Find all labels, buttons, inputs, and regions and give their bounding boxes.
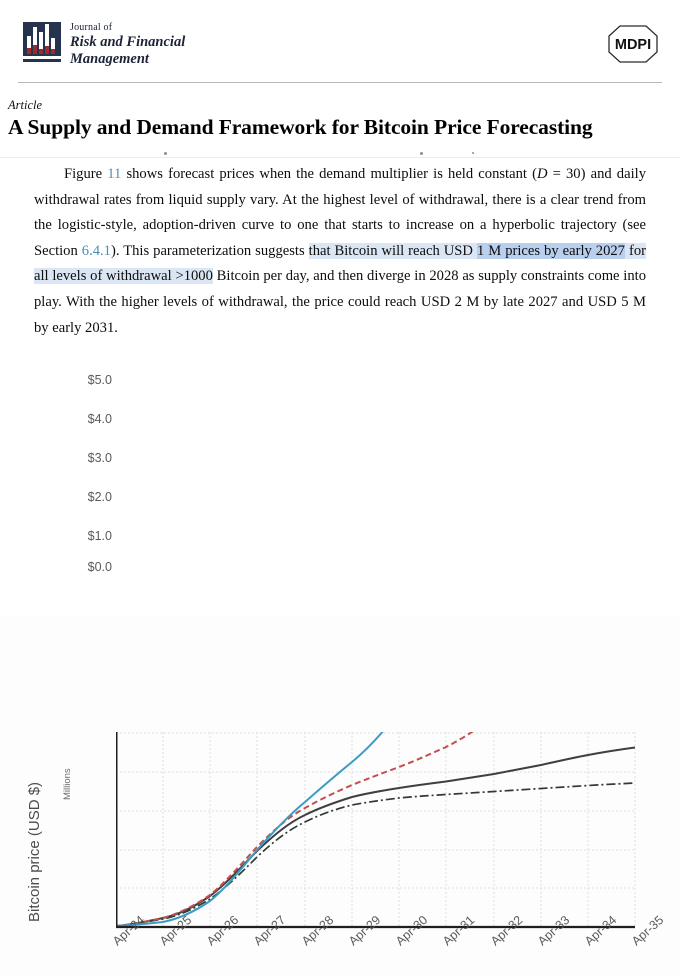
journal-logo-icon — [23, 22, 61, 62]
chart-x-tick: Apr-32 — [488, 913, 525, 949]
para-text-1: Figure — [64, 166, 107, 182]
journal-title-line-3: Management — [70, 51, 185, 68]
article-type-kicker: Article — [8, 98, 42, 113]
journal-title-line-2: Risk and Financial — [70, 34, 185, 51]
text-artifact — [420, 152, 423, 155]
para-text-2: shows forecast prices when the demand mu… — [121, 166, 537, 182]
section-hairline — [0, 157, 680, 158]
chart-x-tick: Apr-27 — [251, 913, 288, 949]
chart-x-tick: Apr-33 — [535, 913, 572, 949]
text-artifact — [472, 152, 474, 154]
figure-reference-link[interactable]: 11 — [107, 166, 121, 182]
chart-x-tick: Apr-34 — [582, 913, 619, 949]
variable-d: D — [537, 166, 548, 182]
chart-x-tick: Apr-30 — [393, 913, 430, 949]
chart-x-tick: Apr-24 — [110, 913, 147, 949]
chart-x-tick: Apr-28 — [299, 913, 336, 949]
chart-x-tick: Apr-26 — [204, 913, 241, 949]
para-text-4: ). This parameterization suggests — [111, 243, 309, 259]
section-reference-link[interactable]: 6.4.1 — [82, 243, 111, 259]
mdpi-logo-text: MDPI — [615, 37, 651, 53]
text-artifact — [164, 152, 167, 155]
journal-title: Journal of Risk and Financial Management — [70, 22, 185, 68]
chart-x-tick: Apr-35 — [629, 913, 666, 949]
chart-x-tick-group: Apr-24 Apr-25 Apr-26 Apr-27 Apr-28 Apr-2… — [0, 360, 680, 977]
document-page: Journal of Risk and Financial Management… — [0, 0, 680, 617]
highlighted-text-light-1: that Bitcoin will reach USD — [309, 243, 477, 259]
highlighted-text-strong: 1 M prices by early 2027 — [477, 243, 625, 259]
journal-masthead: Journal of Risk and Financial Management… — [0, 0, 680, 88]
journal-title-line-1: Journal of — [70, 22, 185, 34]
body-paragraph: Figure 11 shows forecast prices when the… — [34, 162, 646, 341]
page-title: A Supply and Demand Framework for Bitcoi… — [8, 115, 672, 140]
forecast-chart: Bitcoin price (USD $) Millions $5.0 $4.0… — [0, 360, 680, 617]
chart-x-tick: Apr-31 — [440, 913, 477, 949]
chart-x-tick: Apr-29 — [346, 913, 383, 949]
masthead-divider — [18, 82, 662, 83]
mdpi-logo-icon: MDPI — [604, 24, 662, 64]
chart-x-tick: Apr-25 — [157, 913, 194, 949]
